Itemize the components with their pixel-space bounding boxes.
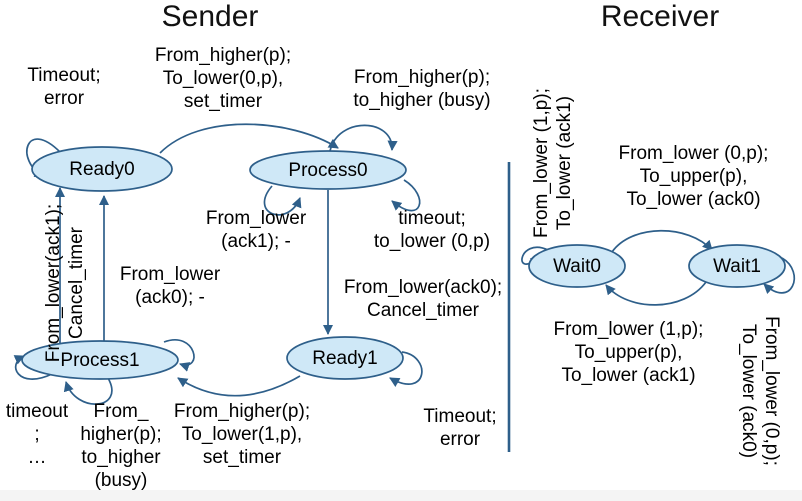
edge-label-wait1-self: From_lower (0,p); To_lower (ack0)	[737, 281, 783, 501]
edge-label-process0-to-ready1: From_lower(ack0); Cancel_timer	[327, 276, 519, 322]
edge-label-ready0-to-process0: From_higher(p); To_lower(0,p), set_timer	[128, 44, 318, 113]
edge-process0-self-top	[330, 125, 392, 151]
edge-ready0-to-process0	[160, 124, 338, 153]
edge-label-ready0-self: Timeout; error	[2, 64, 126, 110]
edge-label-ready1-self: Timeout; error	[405, 405, 515, 451]
edge-label-wait0-self: From_lower (1,p); To_lower (ack1)	[530, 53, 576, 273]
edge-process0-self-right	[392, 180, 420, 211]
edge-label-process1-self-mid: From_ higher(p); to_higher (busy)	[66, 400, 176, 492]
edge-wait0-to-wait1	[612, 231, 712, 252]
panel-title-receiver: Receiver	[560, 0, 760, 34]
edge-wait1-to-wait0	[606, 282, 706, 305]
state-node-process0[interactable]	[250, 151, 406, 189]
edge-label-process0-self-right: timeout; to_lower (0,p)	[352, 207, 512, 253]
edge-ready1-to-process1	[178, 376, 300, 396]
edge-label-process1-to-ready0-outer: From_lower(ack1); Cancel_timer	[42, 173, 88, 393]
panel-title-sender: Sender	[110, 0, 310, 34]
edge-label-wait0-to-wait1: From_lower (0,p); To_upper(p), To_lower …	[586, 142, 801, 211]
edge-label-process1-to-ready0: From_lower (ack0); -	[100, 263, 240, 309]
state-node-ready1[interactable]	[287, 337, 403, 379]
edge-label-process0-self-left: From_lower (ack1); -	[186, 207, 326, 253]
edge-label-wait1-to-wait0: From_lower (1,p); To_upper(p), To_lower …	[521, 318, 736, 387]
diagram-canvas: Sender Receiver Ready0 Process0 Process1…	[0, 0, 802, 501]
edge-label-ready1-to-process1: From_higher(p); To_lower(1,p), set_timer	[152, 400, 332, 469]
edge-label-process1-self-left: timeout ; …	[0, 400, 76, 469]
footer-band	[0, 490, 802, 501]
edge-label-process0-self-top: From_higher(p); to_higher (busy)	[322, 66, 522, 112]
